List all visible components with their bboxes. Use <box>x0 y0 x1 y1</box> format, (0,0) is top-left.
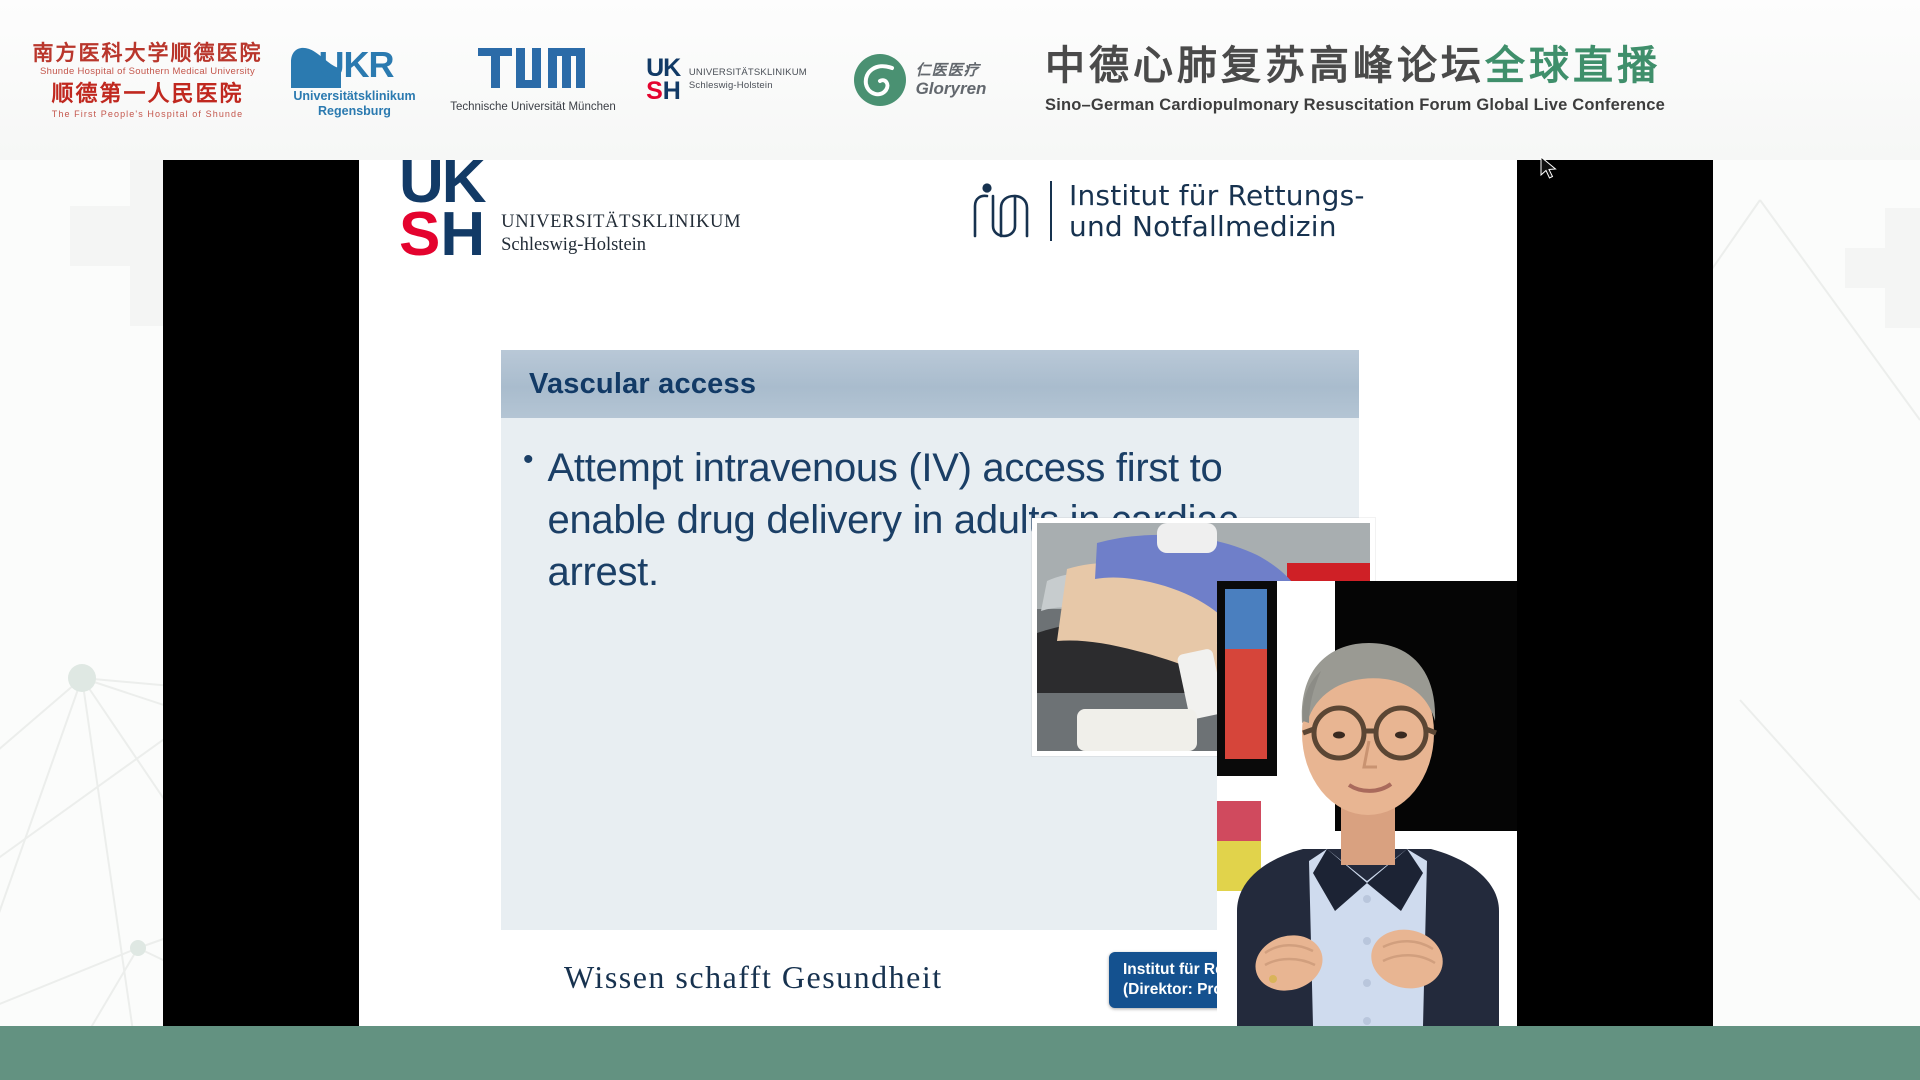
slide-uksh-h: H <box>440 200 485 269</box>
wedding-ring-icon <box>1269 975 1277 983</box>
irn-name-line1: Institut für Rettungs- <box>1069 180 1365 211</box>
ukr-logo: UKR Universitätsklinikum Regensburg <box>277 20 432 140</box>
conference-title-chinese: 中德心肺复苏高峰论坛全球直播 <box>1045 45 1665 87</box>
slide-uksh-mark: UK SH <box>399 160 485 262</box>
irn-name-line2: und Notfallmedizin <box>1069 211 1365 242</box>
gloryren-logo-cn: 仁医医疗 <box>916 61 987 79</box>
shunde-logo-en-line2: The First People's Hospital of Shunde <box>52 109 244 119</box>
mouse-cursor-icon <box>1540 156 1560 182</box>
shunde-logo-cn-line1: 南方医科大学顺德医院 <box>33 41 263 64</box>
slide-uksh-name: UNIVERSITÄTSKLINIKUM Schleswig-Holstein <box>501 212 741 262</box>
slide-irn-logo: Institut für Rettungs- und Notfallmedizi… <box>971 180 1365 243</box>
video-stage[interactable]: UK SH UNIVERSITÄTSKLINIKUM Schleswig-Hol… <box>163 160 1713 1026</box>
uksh-logo: UK SH UNIVERSITÄTSKLINIKUM Schleswig-Hol… <box>634 20 819 140</box>
speaker-portrait <box>1217 581 1517 1026</box>
conference-header-bar: 南方医科大学顺德医院 Shunde Hospital of Southern M… <box>0 0 1920 160</box>
irn-dot-icon <box>982 184 991 193</box>
conference-title-chinese-main: 中德心肺复苏高峰论坛 <box>1045 43 1485 89</box>
slide-title-bar: Vascular access <box>501 350 1359 418</box>
ukr-logo-letters: UKR <box>319 44 394 86</box>
slide-uksh-s: S <box>399 200 440 269</box>
ukr-logo-mark: UKR <box>285 42 425 88</box>
tum-logo-sub: Technische Universität München <box>450 101 616 113</box>
slide-motto: Wissen schafft Gesundheit <box>564 959 943 996</box>
slide-uksh-name-line1: UNIVERSITÄTSKLINIKUM <box>501 212 741 233</box>
bullet-dot-icon: • <box>523 442 534 598</box>
footer-accent-bar <box>0 1026 1920 1080</box>
conference-title-english: Sino–German Cardiopulmonary Resuscitatio… <box>1045 96 1665 115</box>
tum-logo: Technische Universität München <box>458 20 608 140</box>
partner-logo-strip: 南方医科大学顺德医院 Shunde Hospital of Southern M… <box>0 0 999 160</box>
gloryren-logo-en: Gloryren <box>916 79 987 99</box>
uksh-logo-h: H <box>663 77 681 105</box>
shunde-logo-en-line1: Shunde Hospital of Southern Medical Univ… <box>40 66 255 77</box>
presentation-slide: UK SH UNIVERSITÄTSKLINIKUM Schleswig-Hol… <box>359 160 1517 1026</box>
tum-logo-mark <box>478 48 588 94</box>
gloryren-logo: 仁医医疗 Gloryren <box>839 20 999 140</box>
shunde-logo-cn-line2: 顺德第一人民医院 <box>51 82 243 106</box>
network-node <box>68 664 96 692</box>
gloryren-swirl-icon <box>852 52 908 108</box>
shunde-hospital-logo: 南方医科大学顺德医院 Shunde Hospital of Southern M… <box>40 20 255 140</box>
irn-name: Institut für Rettungs- und Notfallmedizi… <box>1069 180 1365 243</box>
irn-monogram-icon <box>971 182 1033 240</box>
network-node <box>130 940 146 956</box>
ukr-logo-sub-line2: Regensburg <box>293 104 415 118</box>
ukr-logo-sub-line1: Universitätsklinikum <box>293 89 415 103</box>
conference-title-block: 中德心肺复苏高峰论坛全球直播 Sino–German Cardiopulmona… <box>1045 20 1665 140</box>
slide-title: Vascular access <box>529 368 756 401</box>
tum-wordmark-icon <box>478 48 588 88</box>
slide-uksh-logo: UK SH UNIVERSITÄTSKLINIKUM Schleswig-Hol… <box>399 160 741 262</box>
conference-title-chinese-live: 全球直播 <box>1485 43 1661 89</box>
uksh-logo-s: S <box>646 77 663 105</box>
irn-divider <box>1050 181 1052 241</box>
uksh-logo-sub-line1: UNIVERSITÄTSKLINIKUM <box>689 67 807 80</box>
speaker-video-overlay[interactable] <box>1217 581 1517 1026</box>
uksh-logo-mark: UK SH <box>646 57 681 103</box>
slide-uksh-name-line2: Schleswig-Holstein <box>501 235 741 256</box>
uksh-logo-sub-line2: Schleswig-Holstein <box>689 80 807 93</box>
